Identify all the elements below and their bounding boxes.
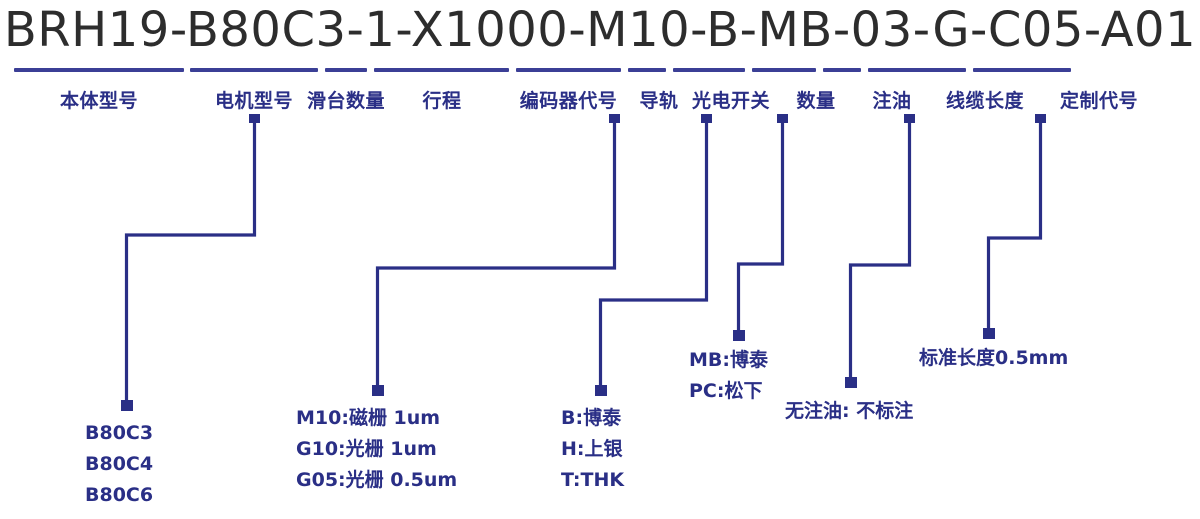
field-label-quantity: 数量 <box>786 86 846 113</box>
callout-rail: B:博泰 H:上银 T:THK <box>561 403 624 496</box>
callout-photo-switch: MB:博泰 PC:松下 <box>689 345 768 407</box>
callout-option: PC:松下 <box>689 376 768 407</box>
callout-cable-length: 标准长度0.5mm <box>919 343 1068 374</box>
leader-node-rail-bottom <box>595 385 607 396</box>
callout-option: 无注油: 不标注 <box>785 396 913 427</box>
leader-node-motor-model-top <box>249 114 260 123</box>
segment-rule-slide-count <box>325 68 367 72</box>
leader-node-photo-switch-top <box>777 114 788 123</box>
leader-node-oiling-bottom <box>845 377 857 388</box>
callout-body-model: B80C3 B80C4 B80C6 <box>85 418 153 511</box>
field-label-motor-model: 电机型号 <box>190 86 318 113</box>
callout-option: H:上银 <box>561 434 624 465</box>
segment-rule-encoder <box>516 68 621 72</box>
segment-rule-photo-switch <box>673 68 745 72</box>
leader-line-encoder <box>378 118 615 390</box>
segment-rule-motor-model <box>190 68 318 72</box>
field-label-encoder: 编码器代号 <box>506 86 631 113</box>
leader-line-cable-length <box>989 118 1041 333</box>
callout-option: MB:博泰 <box>689 345 768 376</box>
leader-node-encoder-top <box>609 114 620 123</box>
segment-rule-oiling <box>823 68 861 72</box>
callout-encoder: M10:磁栅 1um G10:光栅 1um G05:光栅 0.5um <box>296 403 457 496</box>
callout-option: T:THK <box>561 465 624 496</box>
callout-option: 标准长度0.5mm <box>919 343 1068 374</box>
callout-option: G10:光栅 1um <box>296 434 457 465</box>
callout-oiling: 无注油: 不标注 <box>785 396 913 427</box>
part-number-title: BRH19-B80C3-1-X1000-M10-B-MB-03-G-C05-A0… <box>0 2 1200 58</box>
segment-rule-cable-length <box>868 68 966 72</box>
callout-option: M10:磁栅 1um <box>296 403 457 434</box>
field-label-cable-length: 线缆长度 <box>930 86 1040 113</box>
field-label-oiling: 注油 <box>862 86 922 113</box>
part-number-breakdown-diagram: BRH19-B80C3-1-X1000-M10-B-MB-03-G-C05-A0… <box>0 0 1200 519</box>
leader-node-oiling-top <box>904 114 915 123</box>
leader-node-body-model-bottom <box>121 400 133 411</box>
callout-option: B:博泰 <box>561 403 624 434</box>
callout-option: B80C3 <box>85 418 153 449</box>
field-label-body-model: 本体型号 <box>14 86 184 113</box>
leader-line-photo-switch <box>739 118 783 335</box>
segment-rule-body-model <box>14 68 184 72</box>
segment-rule-quantity <box>752 68 816 72</box>
leader-node-encoder-bottom <box>372 385 384 396</box>
leader-node-rail-top <box>701 114 712 123</box>
field-label-photo-switch: 光电开关 <box>688 86 774 113</box>
field-label-stroke: 行程 <box>400 86 484 113</box>
callout-option: G05:光栅 0.5um <box>296 465 457 496</box>
callout-option: B80C4 <box>85 449 153 480</box>
leader-node-cable-length-top <box>1035 114 1046 123</box>
callout-option: B80C6 <box>85 480 153 511</box>
segment-rule-rail <box>628 68 666 72</box>
field-label-slide-count: 滑台数量 <box>304 86 388 113</box>
field-label-rail: 导轨 <box>636 86 682 113</box>
leader-node-photo-switch-bottom <box>733 330 745 341</box>
segment-rule-stroke <box>374 68 509 72</box>
leader-line-body-model <box>127 118 255 405</box>
leader-node-cable-length-bottom <box>983 328 995 339</box>
field-label-custom-code: 定制代号 <box>1044 86 1154 113</box>
segment-rule-custom-code <box>973 68 1071 72</box>
leader-line-oiling <box>851 118 910 382</box>
